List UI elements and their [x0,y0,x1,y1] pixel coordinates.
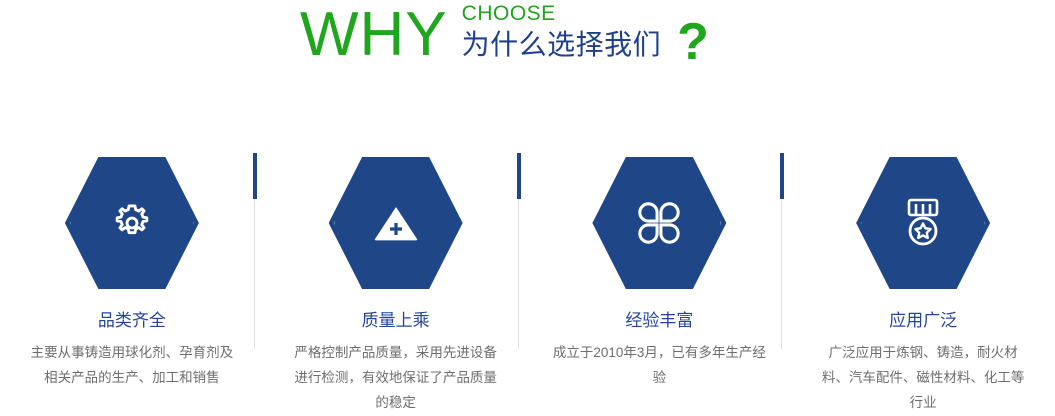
feature-card-title: 品类齐全 [98,311,166,331]
hexagon-badge-1 [65,155,199,291]
section-header: WHY CHOOSE 为什么选择我们 ? [0,0,1055,96]
header-title-group: WHY CHOOSE 为什么选择我们 ? [300,0,709,68]
hexagon-badge-4 [856,155,990,291]
feature-card-description: 主要从事铸造用球化剂、孕育剂及相关产品的生产、加工和销售 [24,340,239,390]
divider-line [781,199,782,349]
headline-why: WHY [300,4,448,66]
divider-accent-segment [517,153,521,199]
headline-middle-stack: CHOOSE 为什么选择我们 [462,2,662,62]
headline-chinese-subtitle: 为什么选择我们 [462,28,662,62]
triangle-plus-icon [329,155,463,291]
divider-line [518,199,519,349]
card-divider-2 [518,146,519,416]
feature-card-1[interactable]: 品类齐全 主要从事铸造用球化剂、孕育剂及相关产品的生产、加工和销售 [0,146,264,416]
feature-card-description: 严格控制产品质量，采用先进设备进行检测，有效地保证了产品质量的稳定 [288,340,503,415]
feature-card-2[interactable]: 质量上乘 严格控制产品质量，采用先进设备进行检测，有效地保证了产品质量的稳定 [264,146,528,416]
clover-icon [592,155,726,291]
headline-choose: CHOOSE [462,2,662,25]
divider-accent-segment [253,153,257,199]
hexagon-badge-2 [329,155,463,291]
feature-card-title: 应用广泛 [889,311,957,331]
feature-card-description: 成立于2010年3月，已有多年生产经验 [552,340,767,390]
question-mark-icon: ? [677,16,709,68]
feature-card-title: 经验丰富 [625,311,693,331]
feature-card-description: 广泛应用于炼钢、铸造，耐火材料、汽车配件、磁性材料、化工等行业 [816,340,1031,415]
feature-card-3[interactable]: 经验丰富 成立于2010年3月，已有多年生产经验 [528,146,792,416]
feature-card-title: 质量上乘 [362,311,430,331]
divider-accent-segment [780,153,784,199]
gear-icon [65,155,199,291]
card-divider-1 [254,146,255,416]
feature-cards-row: 品类齐全 主要从事铸造用球化剂、孕育剂及相关产品的生产、加工和销售 质量上乘 严… [0,146,1055,416]
feature-card-4[interactable]: 应用广泛 广泛应用于炼钢、铸造，耐火材料、汽车配件、磁性材料、化工等行业 [791,146,1055,416]
divider-line [254,199,255,349]
card-divider-3 [781,146,782,416]
hexagon-badge-3 [592,155,726,291]
medal-star-icon [856,155,990,291]
